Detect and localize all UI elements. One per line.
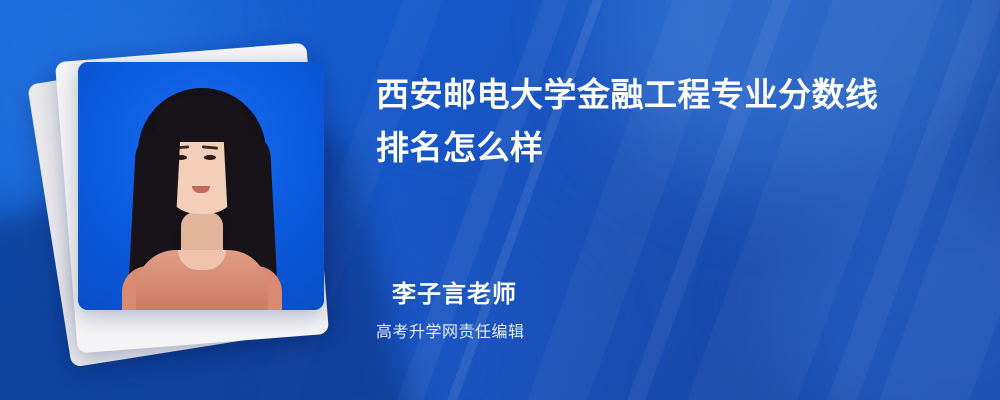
text-column: 西安邮电大学金融工程专业分数线 排名怎么样 李子言老师 高考升学网责任编辑 <box>376 0 976 400</box>
author-role: 高考升学网责任编辑 <box>376 318 525 342</box>
page-title: 西安邮电大学金融工程专业分数线 排名怎么样 <box>376 68 956 175</box>
author-name: 李子言老师 <box>392 274 517 309</box>
article-cover-banner: 西安邮电大学金融工程专业分数线 排名怎么样 李子言老师 高考升学网责任编辑 <box>0 0 1000 400</box>
headline-line-1: 西安邮电大学金融工程专业分数线 <box>376 68 956 121</box>
portrait-illustration <box>78 62 324 310</box>
headline-line-2: 排名怎么样 <box>376 121 956 174</box>
eye-right <box>204 155 216 160</box>
portrait-photo <box>78 62 324 310</box>
